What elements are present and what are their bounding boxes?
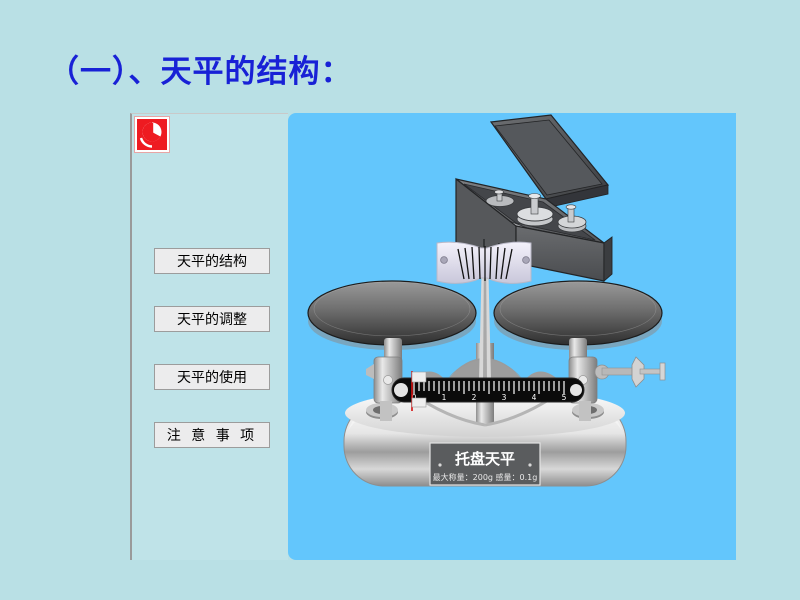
sidebar-item-label: 注 意 事 项 [167,425,257,445]
name-plate-title: 托盘天平 [455,450,515,468]
pointer-scale-dial-icon [437,242,531,283]
right-pan [494,281,662,362]
sidebar-item-label: 天平的使用 [177,367,247,387]
slide-canvas: （一）、天平的结构： 天平的结构 天平的调整 天平的使用 注 意 事 项 [0,0,800,600]
name-plate: 托盘天平 最大称量：200g 感量：0.1g [430,443,540,485]
page-title: （一）、天平的结构： [48,46,353,91]
svg-text:4: 4 [532,393,537,402]
sidebar-item-label: 天平的调整 [177,309,247,329]
svg-text:5: 5 [562,393,567,402]
sidebar-item-adjustment[interactable]: 天平的调整 [154,306,270,332]
svg-text:2: 2 [472,393,477,402]
logo-glyph-icon [137,119,167,150]
sidebar-panel: 天平的结构 天平的调整 天平的使用 注 意 事 项 [130,113,288,560]
name-plate-spec: 最大称量：200g 感量：0.1g [433,472,538,482]
sidebar-item-usage[interactable]: 天平的使用 [154,364,270,390]
left-pan [308,281,476,362]
sidebar-item-label: 天平的结构 [177,251,247,271]
svg-text:1: 1 [442,393,447,402]
red-square-logo-icon [134,116,170,153]
balance-nut-icon [595,357,665,387]
sidebar-item-structure[interactable]: 天平的结构 [154,248,270,274]
sidebar-item-notes[interactable]: 注 意 事 项 [154,422,270,448]
illustration-panel: 托盘天平 最大称量：200g 感量：0.1g [288,113,736,560]
tray-balance-illustration: 托盘天平 最大称量：200g 感量：0.1g [288,113,736,560]
svg-text:3: 3 [502,393,507,402]
